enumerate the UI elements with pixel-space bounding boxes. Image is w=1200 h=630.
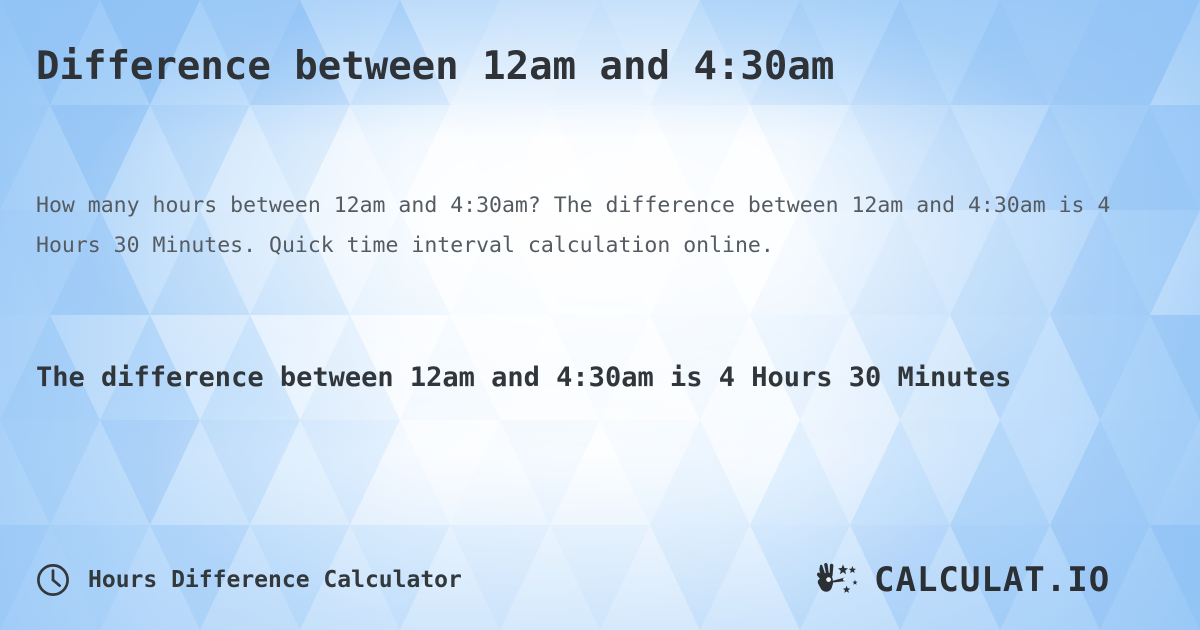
- brand-name-calculatio: CALCULAT.IO: [874, 560, 1174, 600]
- result-heading: The difference between 12am and 4:30am i…: [36, 357, 1096, 399]
- brand-logo: CALCULAT.IO: [814, 560, 1174, 600]
- intro-paragraph: How many hours between 12am and 4:30am? …: [36, 186, 1146, 266]
- footer-left-group: Hours Difference Calculator: [36, 563, 462, 597]
- magic-wand-hand-icon: [814, 560, 866, 600]
- brand-name-text: CALCULAT.IO: [874, 560, 1110, 600]
- share-card: Difference between 12am and 4:30am How m…: [0, 0, 1200, 630]
- footer-label: Hours Difference Calculator: [88, 567, 462, 593]
- clock-icon: [36, 563, 70, 597]
- page-title: Difference between 12am and 4:30am: [36, 44, 834, 89]
- footer: Hours Difference Calculator: [36, 552, 1174, 608]
- card-content: Difference between 12am and 4:30am How m…: [0, 0, 1200, 630]
